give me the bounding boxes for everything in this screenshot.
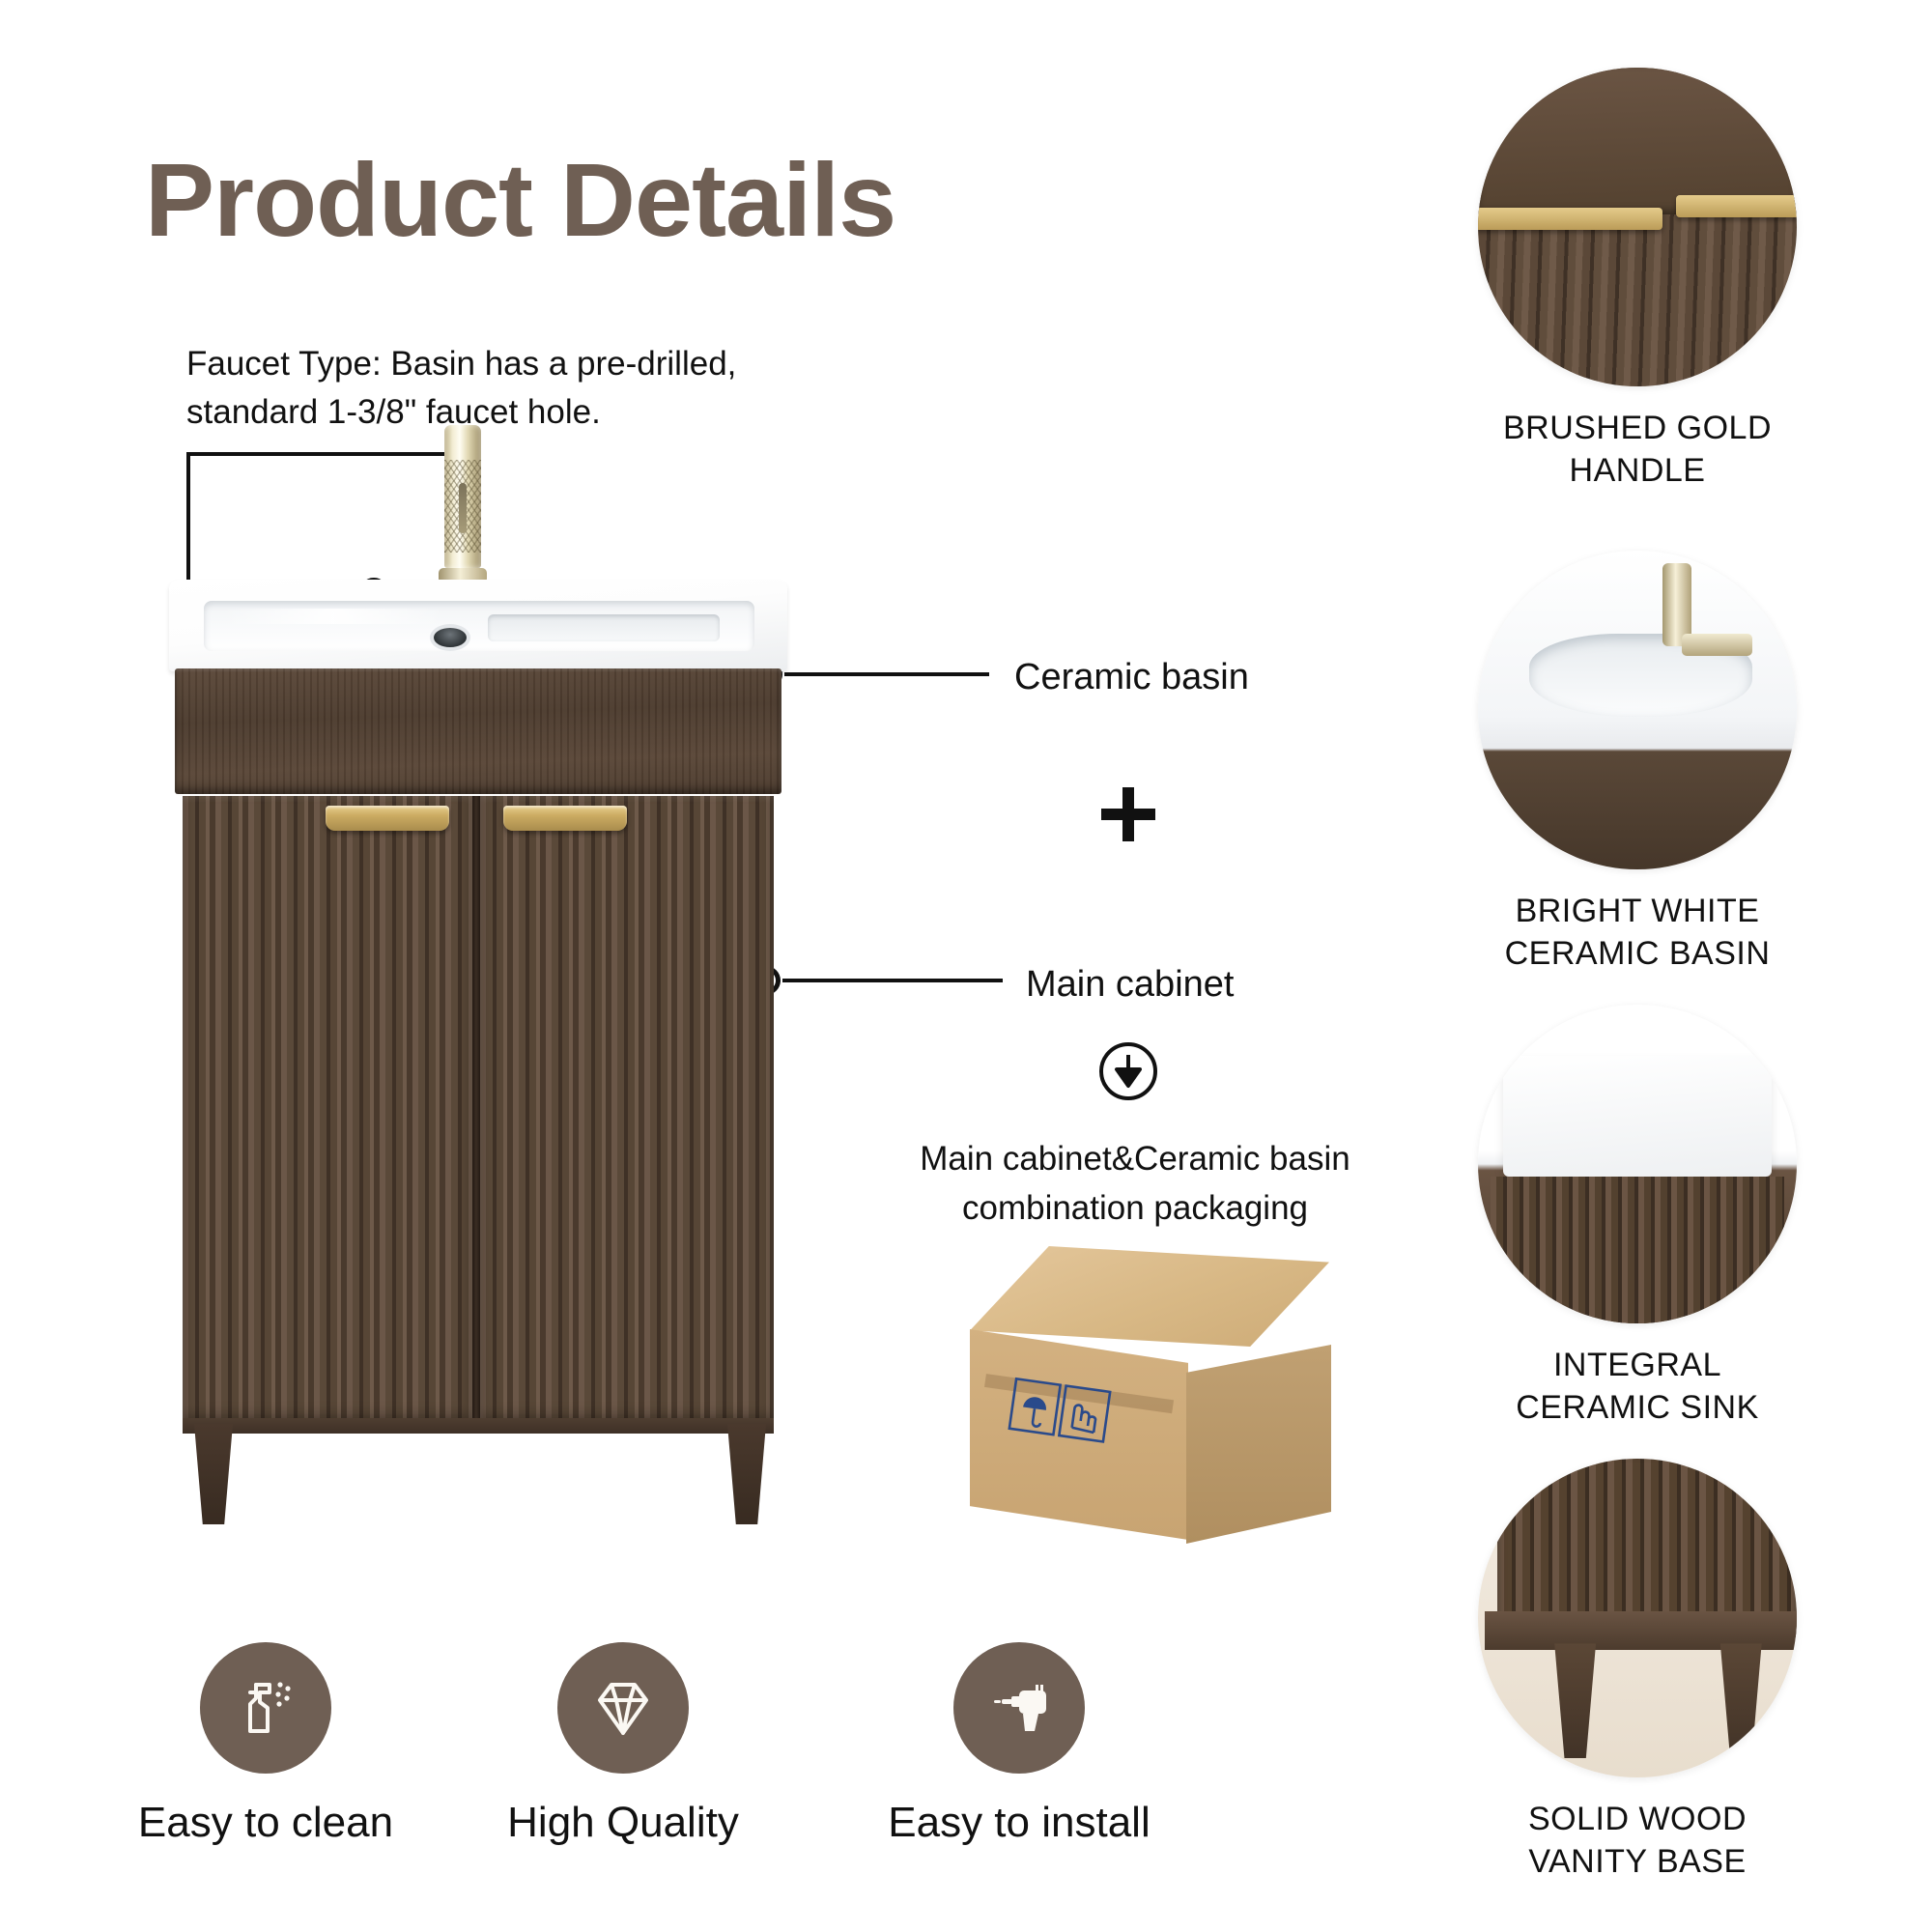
basin-highlight <box>222 609 444 624</box>
sink-corner-wood <box>1491 1177 1784 1323</box>
box-side-face <box>1186 1345 1331 1544</box>
detail-card-solid-wood-vanity-base: SOLID WOOD VANITY BASE <box>1478 1459 1797 1883</box>
ceramic-basin <box>169 580 787 671</box>
faucet-leader-vertical <box>186 452 190 587</box>
detail-photo-integral-ceramic-sink <box>1478 1005 1797 1323</box>
vanity-product-image <box>169 580 787 1526</box>
spray-bottle-icon <box>227 1669 304 1747</box>
gold-handle-left <box>326 806 449 831</box>
faucet-leader-horizontal-top <box>186 452 470 456</box>
gold-handle-right <box>503 806 627 831</box>
main-cabinet-label: Main cabinet <box>1026 959 1234 1011</box>
faucet-icon <box>439 425 487 589</box>
ceramic-basin-leader-line <box>784 672 989 676</box>
drain-hole-icon <box>434 628 467 647</box>
feature-badge-easy-to-clean <box>200 1642 331 1774</box>
detail-photo-solid-wood-vanity-base <box>1478 1459 1797 1777</box>
detail-card-integral-ceramic-sink: INTEGRAL CERAMIC SINK <box>1478 1005 1797 1429</box>
detail-label-brushed-gold-handle: BRUSHED GOLD HANDLE <box>1478 408 1797 492</box>
cabinet-door-seam <box>472 796 480 1424</box>
feature-easy-to-install: Easy to install <box>860 1642 1179 1847</box>
main-cabinet-leader-line <box>782 979 1003 982</box>
detail-photo-brushed-gold-handle <box>1478 68 1797 386</box>
detail-label-solid-wood-vanity-base: SOLID WOOD VANITY BASE <box>1478 1799 1797 1883</box>
faucet-lever <box>459 483 467 533</box>
infographic-canvas: Product Details Faucet Type: Basin has a… <box>0 0 1932 1932</box>
cabinet-apron <box>183 1418 774 1434</box>
detail-photo-bright-white-ceramic-basin <box>1478 551 1797 869</box>
cabinet-door-left <box>183 796 472 1424</box>
page-title: Product Details <box>145 145 895 254</box>
gold-handle-secondary-icon <box>1676 195 1797 217</box>
vanity-leg-right <box>727 1424 766 1524</box>
ceramic-basin-label: Ceramic basin <box>1014 652 1249 704</box>
sink-corner-ceramic <box>1503 1056 1771 1177</box>
feature-easy-to-clean: Easy to clean <box>106 1642 425 1847</box>
drill-icon <box>980 1669 1058 1747</box>
vanity-leg-left <box>194 1424 233 1524</box>
detail-label-bright-white-ceramic-basin: BRIGHT WHITE CERAMIC BASIN <box>1478 891 1797 975</box>
down-arrow-icon <box>1098 1041 1158 1101</box>
detail-label-integral-ceramic-sink: INTEGRAL CERAMIC SINK <box>1478 1345 1797 1429</box>
basin-bowl-inner <box>488 614 720 641</box>
feature-label-easy-to-clean: Easy to clean <box>106 1799 425 1847</box>
feature-label-high-quality: High Quality <box>464 1799 782 1847</box>
cabinet-body <box>183 796 774 1424</box>
faucet-type-note: Faucet Type: Basin has a pre-drilled, st… <box>186 340 805 436</box>
feature-badge-high-quality <box>557 1642 689 1774</box>
box-top-face <box>970 1246 1329 1347</box>
diamond-icon <box>584 1669 662 1747</box>
cabinet-door-right <box>480 796 774 1424</box>
packaging-caption: Main cabinet&Ceramic basin combination p… <box>898 1135 1372 1234</box>
drawer-front <box>175 668 781 794</box>
gold-handle-icon <box>1478 208 1662 230</box>
detail-card-bright-white-ceramic-basin: BRIGHT WHITE CERAMIC BASIN <box>1478 551 1797 975</box>
plus-icon <box>1101 787 1155 841</box>
vanity-base-cabinet <box>1497 1459 1797 1637</box>
feature-badge-easy-to-install <box>953 1642 1085 1774</box>
shipping-box-image <box>947 1246 1352 1565</box>
feature-label-easy-to-install: Easy to install <box>860 1799 1179 1847</box>
feature-high-quality: High Quality <box>464 1642 782 1847</box>
detail-card-brushed-gold-handle: BRUSHED GOLD HANDLE <box>1478 68 1797 492</box>
faucet-spout-icon <box>1682 634 1752 656</box>
